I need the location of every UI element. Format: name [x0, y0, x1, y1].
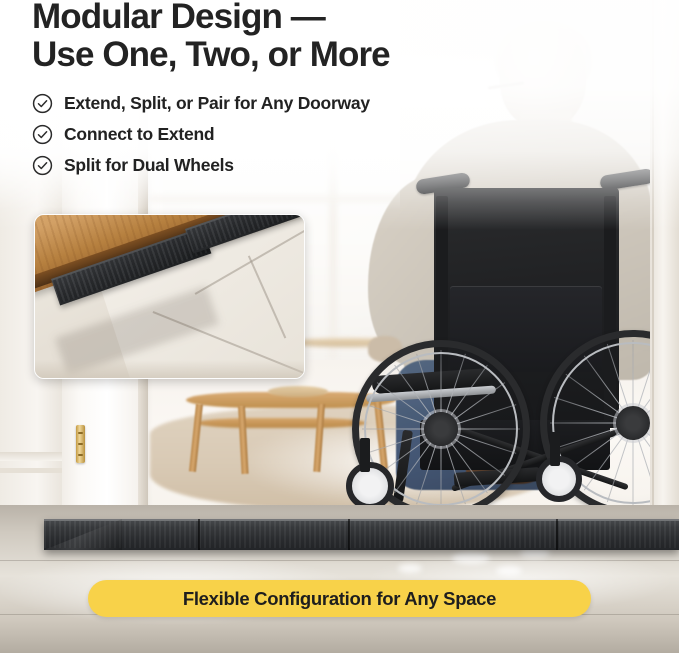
right-jamb-shadow-line — [652, 0, 654, 560]
wheel-hub — [424, 412, 458, 446]
bullet-label: Split for Dual Wheels — [64, 155, 234, 176]
ramp-module-seam — [556, 519, 558, 550]
left-wall-baseboard-trim — [0, 468, 62, 473]
floor-light-dapple — [496, 566, 522, 576]
door-hinge-pin — [78, 454, 83, 456]
headline-line-2: Use One, Two, or More — [32, 36, 552, 74]
door-hinge-pin — [78, 443, 83, 445]
feature-bullet-list: Extend, Split, or Pair for Any Doorway C… — [32, 88, 552, 181]
door-hinge-pin — [78, 432, 83, 434]
caster-fork — [360, 438, 370, 472]
headline-line-1: Modular Design — — [32, 0, 552, 36]
left-wall-baseboard — [0, 452, 62, 461]
page-title: Modular Design — Use One, Two, or More — [32, 0, 552, 74]
check-circle-icon — [32, 93, 53, 114]
wheelchair-caster-wheel-left — [346, 462, 394, 510]
check-circle-icon — [32, 155, 53, 176]
caster-fork — [550, 432, 560, 466]
inset-floor-vignette — [35, 360, 305, 378]
right-door-jamb — [650, 0, 679, 560]
ramp-anti-slip-grooves — [44, 521, 679, 548]
copy-block: Modular Design — Use One, Two, or More E… — [32, 0, 552, 181]
list-item: Connect to Extend — [32, 119, 552, 150]
list-item: Split for Dual Wheels — [32, 150, 552, 181]
bullet-label: Connect to Extend — [64, 124, 214, 145]
status-badge: Flexible Configuration for Any Space — [88, 580, 591, 617]
floor-light-dapple — [398, 564, 422, 573]
check-circle-icon — [32, 124, 53, 145]
threshold-ramp-closeup-photo — [34, 214, 305, 379]
ramp-module-seam — [348, 519, 350, 550]
product-feature-card: Modular Design — Use One, Two, or More E… — [0, 0, 679, 653]
banner-label: Flexible Configuration for Any Space — [183, 588, 496, 610]
ramp-top-highlight — [44, 519, 679, 521]
wheel-hub — [616, 406, 650, 440]
list-item: Extend, Split, or Pair for Any Doorway — [32, 88, 552, 119]
bullet-label: Extend, Split, or Pair for Any Doorway — [64, 93, 370, 114]
ramp-module-seam — [198, 519, 200, 550]
floor-light-dapple — [452, 552, 490, 564]
